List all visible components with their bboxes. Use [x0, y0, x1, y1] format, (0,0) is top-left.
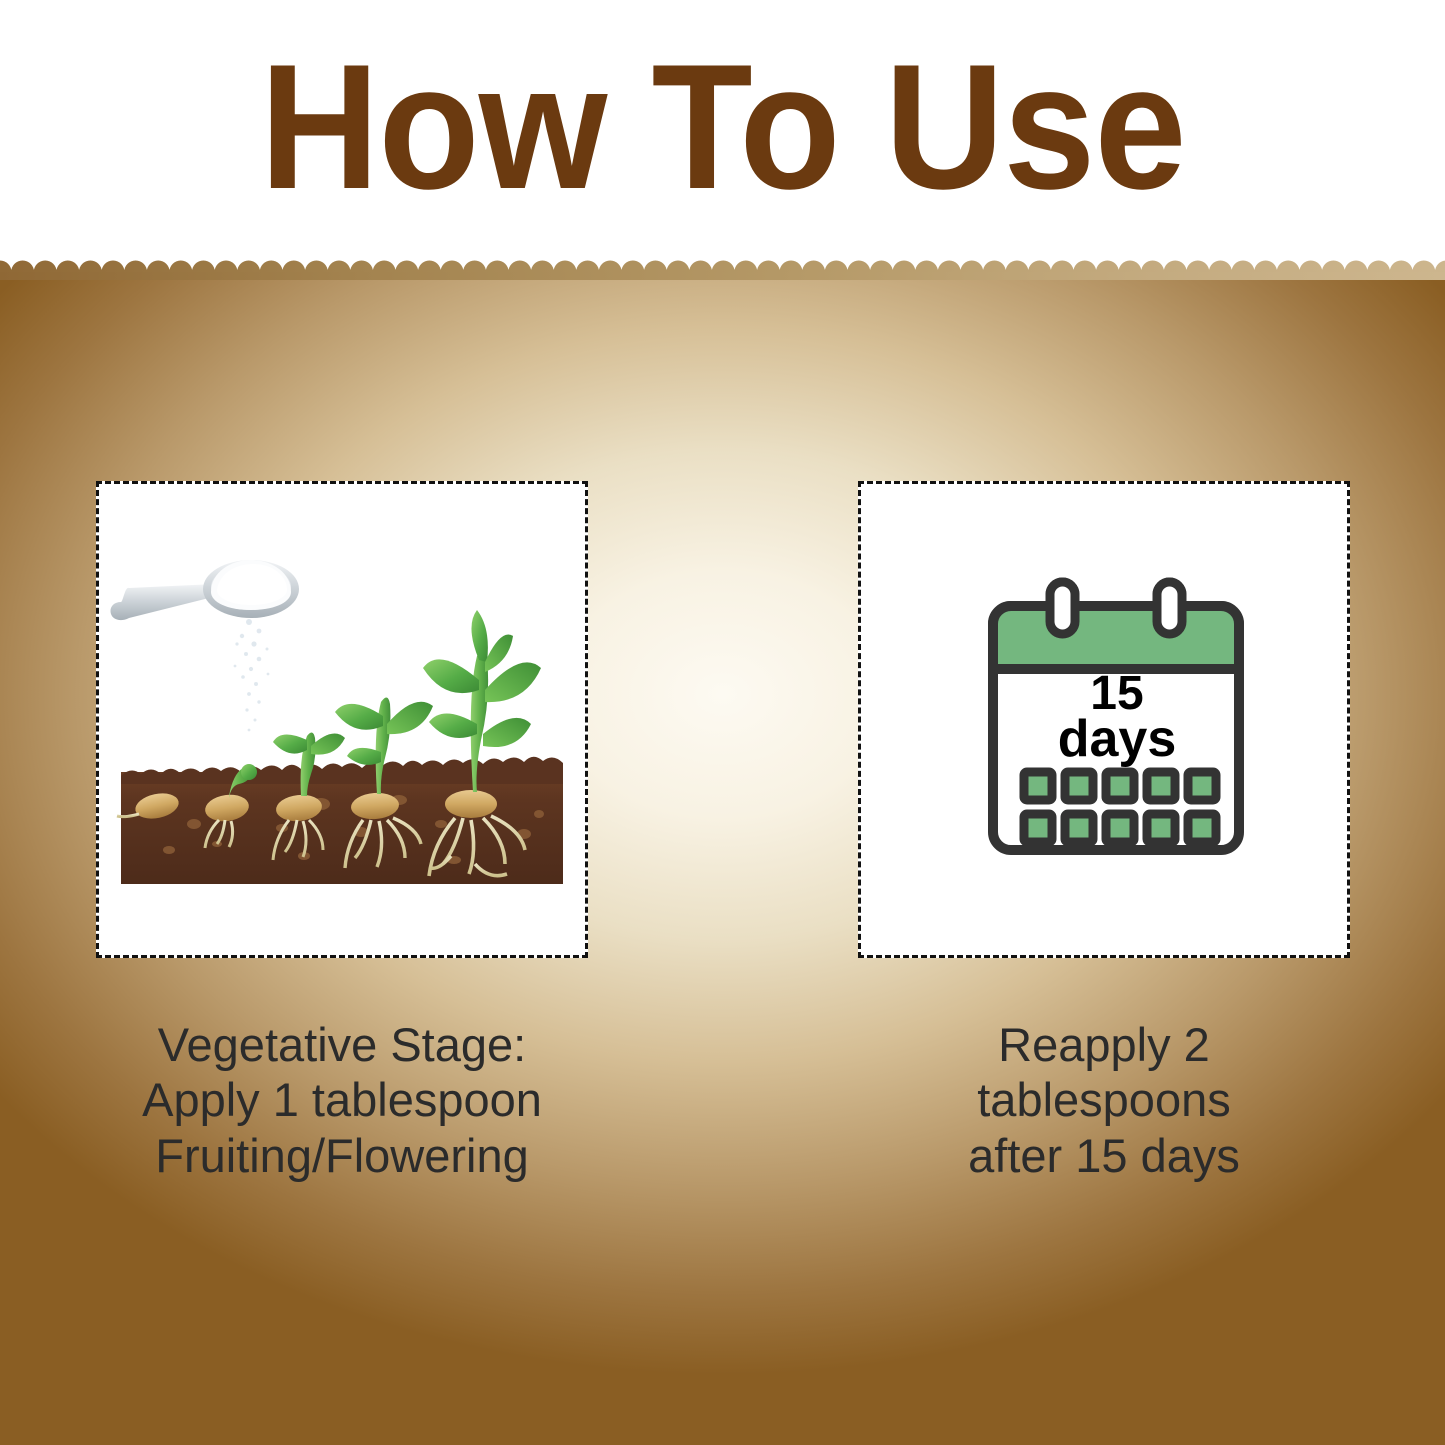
cards-row: 15 days	[0, 272, 1445, 1445]
caption-line: Reapply 2	[858, 1017, 1350, 1072]
caption-line: tablespoons	[858, 1072, 1350, 1127]
card-vegetative-stage[interactable]	[96, 481, 588, 958]
calendar-count-line2: days	[1058, 710, 1177, 768]
falling-powder	[234, 619, 270, 731]
caption-reapply-schedule: Reapply 2 tablespoons after 15 days	[858, 1017, 1350, 1183]
spoon-icon	[110, 560, 299, 731]
card-reapply-schedule[interactable]: 15 days	[858, 481, 1350, 958]
card-image-frame: 15 days	[861, 484, 1347, 955]
caption-line: Vegetative Stage:	[96, 1017, 588, 1072]
plant-growth-stages-illustration	[99, 484, 585, 955]
calendar-header-band	[993, 606, 1239, 669]
caption-line: Apply 1 tablespoon	[96, 1072, 588, 1127]
card-image-frame	[99, 484, 585, 955]
calendar-15-days-icon: 15 days	[861, 484, 1347, 955]
content-area: 15 days	[0, 272, 1445, 1445]
caption-line: Fruiting/Flowering	[96, 1128, 588, 1183]
page-title: How To Use	[260, 38, 1186, 216]
caption-vegetative-stage: Vegetative Stage: Apply 1 tablespoon Fru…	[96, 1017, 588, 1183]
caption-line: after 15 days	[858, 1128, 1350, 1183]
header-bar: How To Use	[0, 0, 1445, 272]
